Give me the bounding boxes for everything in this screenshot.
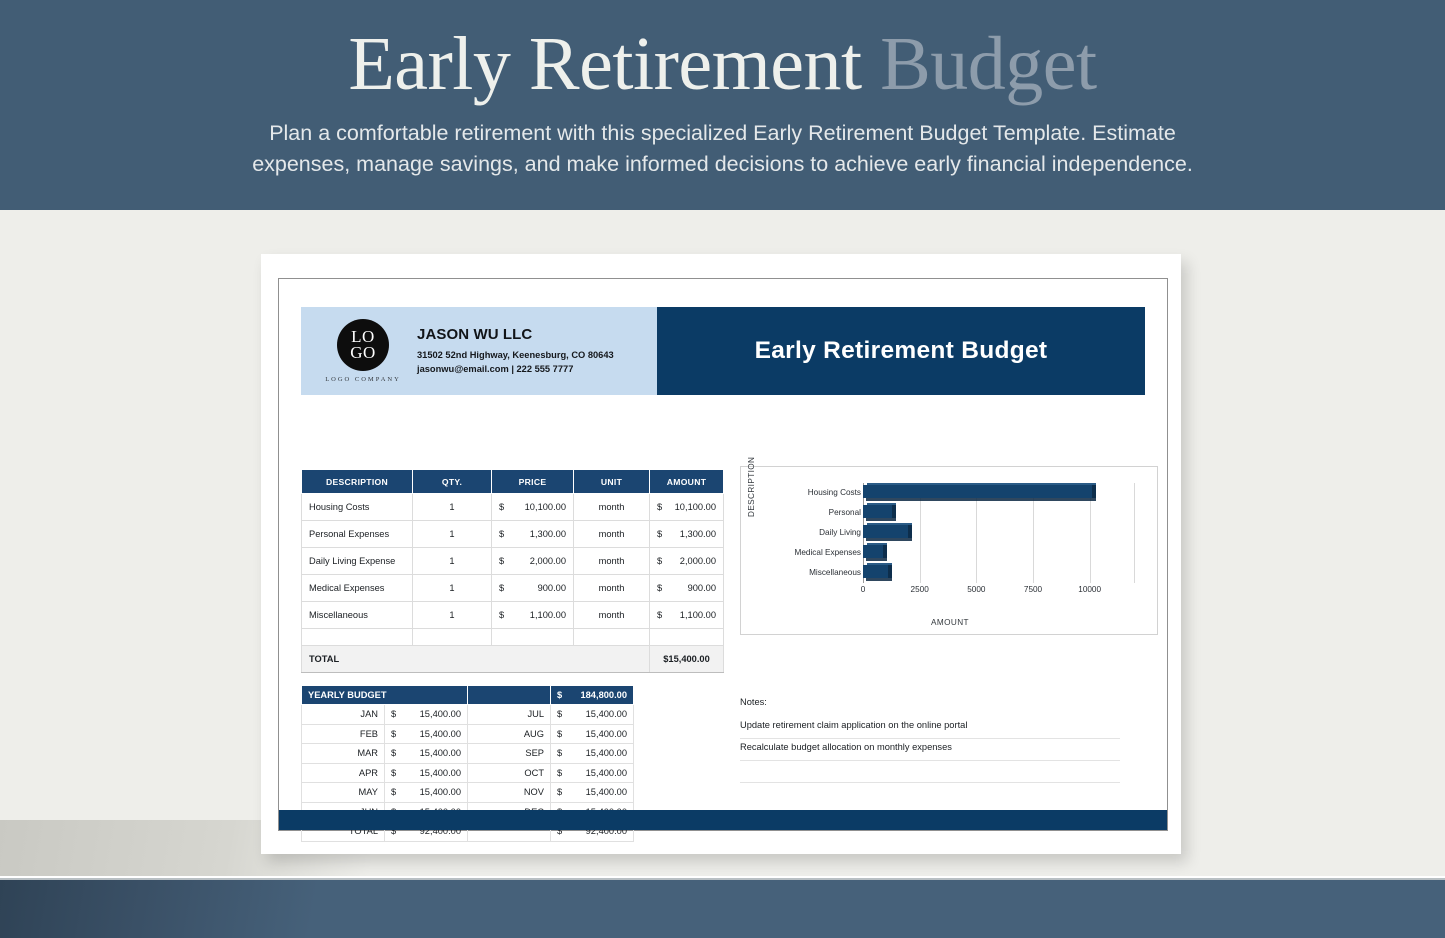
note-item[interactable]: Update retirement claim application on t… <box>740 717 1120 739</box>
cell-empty[interactable] <box>413 629 492 646</box>
month-value: 15,400.00 <box>391 709 461 719</box>
currency-symbol: $ <box>657 502 662 512</box>
chart-category-label: Daily Living <box>765 523 861 543</box>
logo-block: LO GO LOGO COMPANY <box>317 319 409 383</box>
yearly-budget-annual-total: $184,800.00 <box>551 686 634 705</box>
currency-symbol: $ <box>391 787 396 797</box>
total-value: $15,400.00 <box>650 646 724 673</box>
cell-description[interactable]: Personal Expenses <box>302 521 413 548</box>
total-label: TOTAL <box>302 646 650 673</box>
cell-amount[interactable]: $2,000.00 <box>650 548 724 575</box>
cell-month-2[interactable]: SEP <box>468 744 551 764</box>
expense-bar-chart: DESCRIPTION Housing Costs Personal Daily… <box>740 466 1158 635</box>
hero-banner: Early Retirement Budget Plan a comfortab… <box>0 0 1445 210</box>
table-row[interactable]: APR $15,400.00 OCT $15,400.00 <box>302 763 634 783</box>
cell-value-1[interactable]: $15,400.00 <box>385 724 468 744</box>
chart-plot-area <box>863 483 1135 583</box>
currency-symbol: $ <box>391 748 396 758</box>
cell-value-2[interactable]: $15,400.00 <box>551 724 634 744</box>
table-row[interactable]: JAN $15,400.00 JUL $15,400.00 <box>302 705 634 725</box>
company-name: JASON WU LLC <box>417 326 657 343</box>
cell-amount[interactable]: $10,100.00 <box>650 494 724 521</box>
company-contact: jasonwu@email.com | 222 555 7777 <box>417 362 657 376</box>
table-row[interactable]: Personal Expenses 1 $1,300.00 month $1,3… <box>302 521 724 548</box>
cell-month-2[interactable]: NOV <box>468 783 551 803</box>
cell-unit[interactable]: month <box>574 494 650 521</box>
month-value: 15,400.00 <box>557 748 627 758</box>
cell-qty[interactable]: 1 <box>413 602 492 629</box>
cell-month-1[interactable]: MAY <box>302 783 385 803</box>
hero-subtitle-line1: Plan a comfortable retirement with this … <box>269 121 1176 145</box>
currency-symbol: $ <box>391 729 396 739</box>
cell-value-2[interactable]: $15,400.00 <box>551 783 634 803</box>
chart-x-tick-label: 2500 <box>911 585 929 594</box>
cell-value-2[interactable]: $15,400.00 <box>551 744 634 764</box>
cell-amount[interactable]: $900.00 <box>650 575 724 602</box>
document-title: Early Retirement Budget <box>755 337 1048 365</box>
cell-month-2[interactable]: AUG <box>468 724 551 744</box>
currency-symbol: $ <box>557 690 562 700</box>
month-value: 15,400.00 <box>557 729 627 739</box>
currency-symbol: $ <box>391 709 396 719</box>
price-value: 2,000.00 <box>499 556 566 566</box>
currency-symbol: $ <box>391 768 396 778</box>
cell-value-1[interactable]: $15,400.00 <box>385 705 468 725</box>
amount-value: 10,100.00 <box>657 502 716 512</box>
column-header-unit[interactable]: UNIT <box>574 470 650 494</box>
amount-value: 2,000.00 <box>657 556 716 566</box>
expense-table: DESCRIPTION QTY. PRICE UNIT AMOUNT Housi… <box>301 469 724 673</box>
month-value: 15,400.00 <box>391 768 461 778</box>
chart-x-tick-label: 5000 <box>967 585 985 594</box>
cell-unit[interactable]: month <box>574 521 650 548</box>
month-value: 15,400.00 <box>557 787 627 797</box>
price-value: 10,100.00 <box>499 502 566 512</box>
spreadsheet-sheet: LO GO LOGO COMPANY JASON WU LLC 31502 52… <box>278 278 1168 831</box>
chart-bar <box>863 523 913 543</box>
yearly-budget-title: YEARLY BUDGET <box>302 686 468 705</box>
logo-text-bottom: GO <box>350 345 376 361</box>
column-header-price[interactable]: PRICE <box>492 470 574 494</box>
cell-description[interactable]: Daily Living Expense <box>302 548 413 575</box>
price-value: 1,300.00 <box>499 529 566 539</box>
cell-qty[interactable]: 1 <box>413 548 492 575</box>
currency-symbol: $ <box>499 502 504 512</box>
cell-month-2[interactable]: JUL <box>468 705 551 725</box>
column-header-amount[interactable]: AMOUNT <box>650 470 724 494</box>
cell-price[interactable]: $900.00 <box>492 575 574 602</box>
letterhead: LO GO LOGO COMPANY JASON WU LLC 31502 52… <box>301 307 1145 395</box>
cell-amount[interactable]: $1,100.00 <box>650 602 724 629</box>
cell-empty[interactable] <box>492 629 574 646</box>
company-address: 31502 52nd Highway, Keenesburg, CO 80643 <box>417 348 657 362</box>
column-header-qty[interactable]: QTY. <box>413 470 492 494</box>
table-row[interactable]: Housing Costs 1 $10,100.00 month $10,100… <box>302 494 724 521</box>
currency-symbol: $ <box>657 529 662 539</box>
table-row[interactable]: Medical Expenses 1 $900.00 month $900.00 <box>302 575 724 602</box>
logo-caption: LOGO COMPANY <box>317 376 409 383</box>
month-value: 15,400.00 <box>391 787 461 797</box>
cell-unit[interactable]: month <box>574 575 650 602</box>
table-row-total: TOTAL $15,400.00 <box>302 646 724 673</box>
cell-month-1[interactable]: JAN <box>302 705 385 725</box>
cell-price[interactable]: $10,100.00 <box>492 494 574 521</box>
hero-title-secondary: Budget <box>880 22 1097 106</box>
cell-month-2[interactable]: OCT <box>468 763 551 783</box>
currency-symbol: $ <box>499 529 504 539</box>
price-value: 900.00 <box>499 583 566 593</box>
cell-price[interactable]: $2,000.00 <box>492 548 574 575</box>
cell-empty[interactable] <box>574 629 650 646</box>
month-value: 15,400.00 <box>391 748 461 758</box>
cell-qty[interactable]: 1 <box>413 494 492 521</box>
yearly-budget-header-row: YEARLY BUDGET $184,800.00 <box>302 686 634 705</box>
yearly-budget-spacer <box>468 686 551 705</box>
notes-section: Notes: Update retirement claim applicati… <box>740 697 1120 783</box>
chart-category-labels: Housing Costs Personal Daily Living Medi… <box>765 483 861 583</box>
chart-bar <box>863 483 1097 503</box>
table-row[interactable]: MAR $15,400.00 SEP $15,400.00 <box>302 744 634 764</box>
cell-qty[interactable]: 1 <box>413 521 492 548</box>
currency-symbol: $ <box>499 583 504 593</box>
chart-y-axis-label: DESCRIPTION <box>747 457 756 517</box>
cell-month-1[interactable]: MAR <box>302 744 385 764</box>
cell-month-1[interactable]: APR <box>302 763 385 783</box>
hero-title: Early Retirement Budget <box>0 0 1445 102</box>
company-logo-icon: LO GO <box>337 319 389 371</box>
hero-title-primary: Early Retirement <box>348 22 861 106</box>
cell-unit[interactable]: month <box>574 548 650 575</box>
cell-empty[interactable] <box>650 629 724 646</box>
spreadsheet-page: LO GO LOGO COMPANY JASON WU LLC 31502 52… <box>261 254 1181 854</box>
chart-x-axis-label: AMOUNT <box>741 618 1159 627</box>
cell-description[interactable]: Medical Expenses <box>302 575 413 602</box>
cell-empty[interactable] <box>302 629 413 646</box>
chart-bar <box>863 543 888 563</box>
hero-subtitle-line2: expenses, manage savings, and make infor… <box>0 149 1445 180</box>
chart-bar <box>863 563 893 583</box>
chart-category-label: Personal <box>765 503 861 523</box>
chart-category-label: Housing Costs <box>765 483 861 503</box>
chart-x-tick-label: 0 <box>861 585 866 594</box>
currency-symbol: $ <box>557 729 562 739</box>
chart-bar <box>863 503 897 523</box>
cell-value-1[interactable]: $15,400.00 <box>385 744 468 764</box>
cell-unit[interactable]: month <box>574 602 650 629</box>
cell-amount[interactable]: $1,300.00 <box>650 521 724 548</box>
currency-symbol: $ <box>657 556 662 566</box>
currency-symbol: $ <box>657 610 662 620</box>
table-row[interactable]: MAY $15,400.00 NOV $15,400.00 <box>302 783 634 803</box>
chart-category-label: Miscellaneous <box>765 563 861 583</box>
cell-value-1[interactable]: $15,400.00 <box>385 783 468 803</box>
currency-symbol: $ <box>557 768 562 778</box>
note-item[interactable] <box>740 761 1120 783</box>
month-value: 15,400.00 <box>391 729 461 739</box>
amount-value: 1,100.00 <box>657 610 716 620</box>
bottom-bar <box>0 878 1445 938</box>
chart-x-tick-label: 10000 <box>1078 585 1101 594</box>
cell-description[interactable]: Housing Costs <box>302 494 413 521</box>
table-row[interactable]: Daily Living Expense 1 $2,000.00 month $… <box>302 548 724 575</box>
amount-value: 900.00 <box>657 583 716 593</box>
expense-table-body: Housing Costs 1 $10,100.00 month $10,100… <box>302 494 724 673</box>
annual-total-value: 184,800.00 <box>557 690 627 700</box>
column-header-description[interactable]: DESCRIPTION <box>302 470 413 494</box>
chart-x-axis-ticks: 025005000750010000 <box>863 585 1135 597</box>
currency-symbol: $ <box>499 610 504 620</box>
price-value: 1,100.00 <box>499 610 566 620</box>
chart-category-label: Medical Expenses <box>765 543 861 563</box>
table-row-empty[interactable] <box>302 629 724 646</box>
notes-label: Notes: <box>740 697 1120 707</box>
table-row[interactable]: FEB $15,400.00 AUG $15,400.00 <box>302 724 634 744</box>
document-title-bar: Early Retirement Budget <box>657 307 1145 395</box>
cell-price[interactable]: $1,100.00 <box>492 602 574 629</box>
amount-value: 1,300.00 <box>657 529 716 539</box>
cell-value-2[interactable]: $15,400.00 <box>551 763 634 783</box>
chart-x-tick-label: 7500 <box>1024 585 1042 594</box>
currency-symbol: $ <box>557 748 562 758</box>
table-row[interactable]: Miscellaneous 1 $1,100.00 month $1,100.0… <box>302 602 724 629</box>
currency-symbol: $ <box>557 709 562 719</box>
sheet-footer-bar <box>279 810 1167 830</box>
expense-table-header-row: DESCRIPTION QTY. PRICE UNIT AMOUNT <box>302 470 724 494</box>
cell-price[interactable]: $1,300.00 <box>492 521 574 548</box>
cell-value-2[interactable]: $15,400.00 <box>551 705 634 725</box>
month-value: 15,400.00 <box>557 768 627 778</box>
company-details: JASON WU LLC 31502 52nd Highway, Keenesb… <box>417 326 657 376</box>
currency-symbol: $ <box>657 583 662 593</box>
chart-gridline <box>1134 483 1135 583</box>
cell-description[interactable]: Miscellaneous <box>302 602 413 629</box>
currency-symbol: $ <box>557 787 562 797</box>
note-item[interactable]: Recalculate budget allocation on monthly… <box>740 739 1120 761</box>
letterhead-company-panel: LO GO LOGO COMPANY JASON WU LLC 31502 52… <box>301 307 657 395</box>
cell-month-1[interactable]: FEB <box>302 724 385 744</box>
hero-subtitle: Plan a comfortable retirement with this … <box>0 102 1445 180</box>
cell-value-1[interactable]: $15,400.00 <box>385 763 468 783</box>
currency-symbol: $ <box>499 556 504 566</box>
month-value: 15,400.00 <box>557 709 627 719</box>
cell-qty[interactable]: 1 <box>413 575 492 602</box>
